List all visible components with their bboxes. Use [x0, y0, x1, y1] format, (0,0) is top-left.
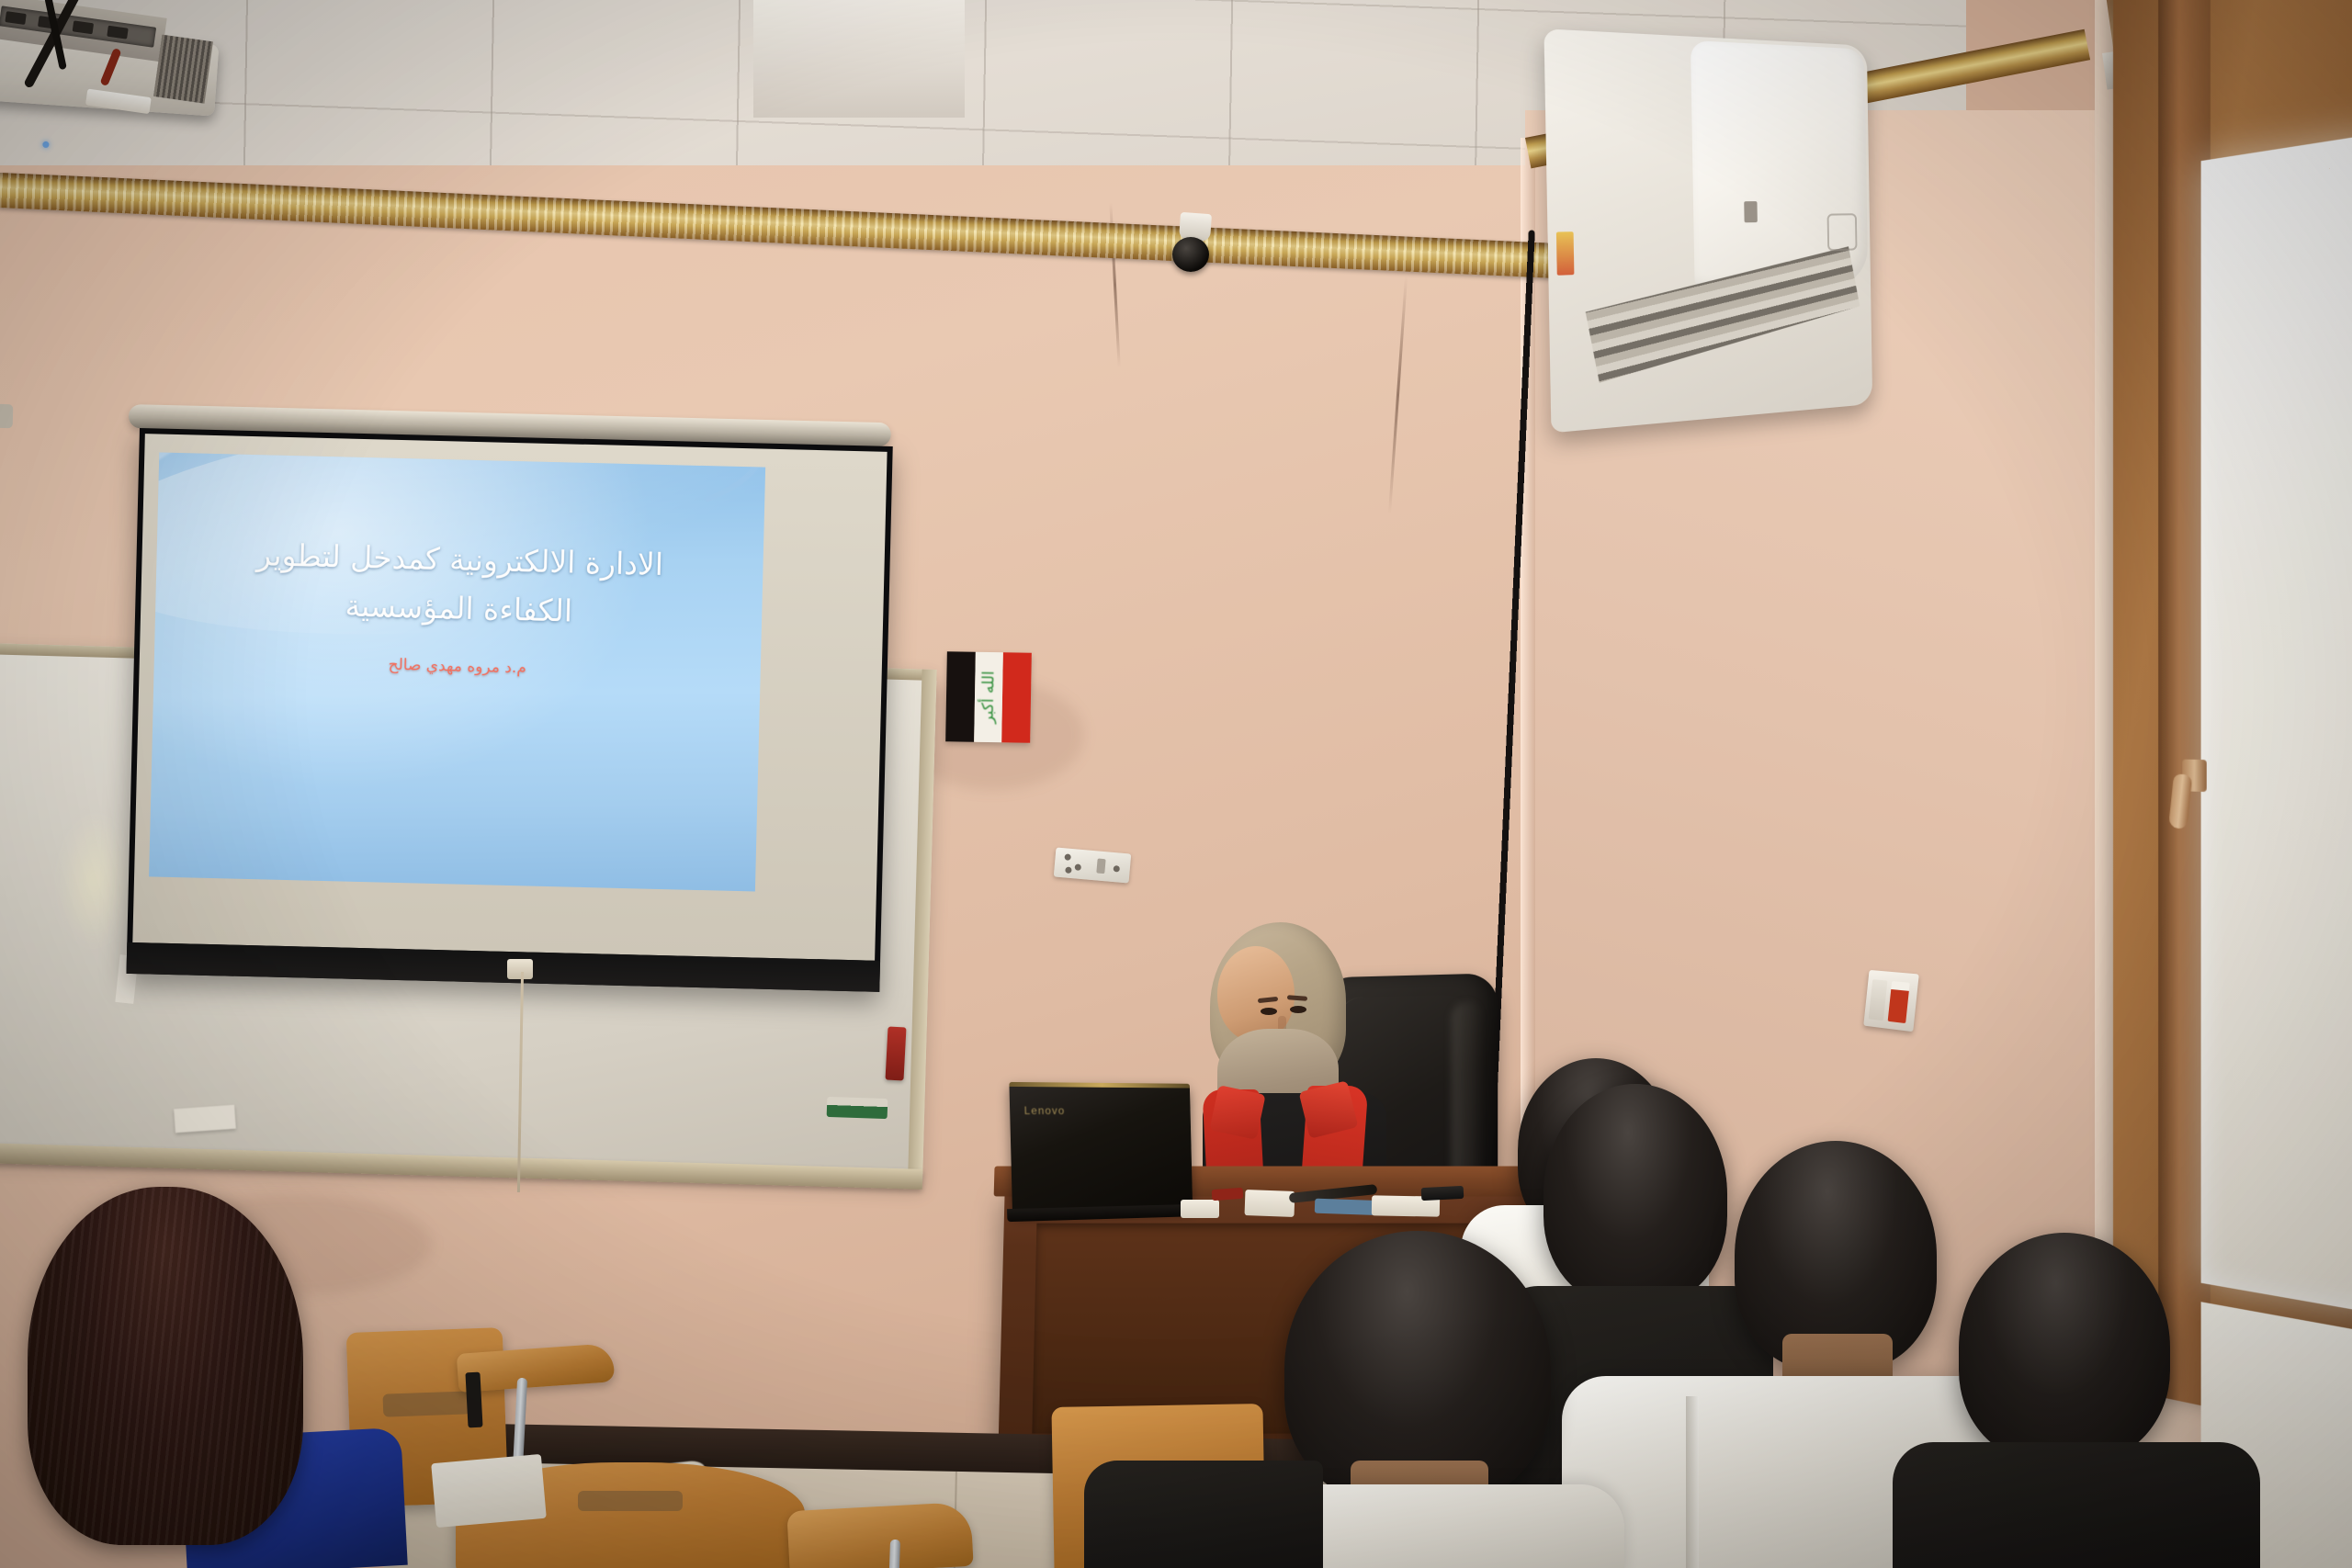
screen-roller-cap [0, 404, 13, 429]
wall-light-switch[interactable] [1863, 970, 1919, 1032]
presenter-eye-left [1261, 1008, 1277, 1015]
slide-author: م.د مروه مهدي صالح [154, 649, 761, 682]
whiteboard-eraser[interactable] [827, 1097, 888, 1119]
red-marker[interactable] [885, 1027, 906, 1081]
iraq-flag: الله أكبر [945, 651, 1032, 743]
chair-bracket-left [465, 1372, 482, 1428]
whiteboard-glare [56, 810, 133, 950]
classroom-photo: الادارة الالكترونية كمدخل لتطوير الكفاءة… [0, 0, 2352, 1568]
desk-items [1181, 1183, 1493, 1225]
projector-vent [153, 35, 213, 104]
student-left-notebook [431, 1454, 547, 1528]
presenter-collar-left [1209, 1085, 1265, 1140]
chair-leg-front [888, 1540, 900, 1568]
lenovo-laptop[interactable]: Lenovo [1009, 1082, 1193, 1213]
laptop-brand-logo: Lenovo [1024, 1104, 1066, 1117]
split-air-conditioner [1543, 28, 1872, 433]
desk-paper-left [1181, 1200, 1219, 1218]
chair-handle-slot [383, 1392, 471, 1417]
student-front-jacket [1084, 1461, 1323, 1568]
student-center-head [1543, 1084, 1727, 1304]
ac-display-slit [1744, 201, 1758, 222]
window-handle[interactable] [2171, 759, 2211, 815]
student-farright-head [1959, 1233, 2170, 1462]
projected-slide: الادارة الالكترونية كمدخل لتطوير الكفاءة… [149, 453, 765, 892]
presenter-eyebrow-left [1258, 997, 1278, 1003]
ac-sticker [1556, 231, 1575, 276]
chair-handle-slot-front [578, 1491, 683, 1511]
window-glass-upper [2201, 133, 2352, 1314]
flag-stripe-white: الله أكبر [974, 652, 1003, 743]
slide-text-block: الادارة الالكترونية كمدخل لتطوير الكفاءة… [154, 528, 764, 683]
flag-stripe-red [1001, 652, 1031, 743]
ac-side-panel-latch [1827, 213, 1858, 251]
presenter-eye-right [1290, 1006, 1306, 1013]
dome-security-camera-lens [1172, 237, 1209, 272]
tablet-arm-desk-front [786, 1502, 973, 1568]
light-switch-rocker-right[interactable] [1888, 981, 1910, 1023]
desk-red-object [1212, 1188, 1244, 1201]
window-frame[interactable] [2113, 0, 2352, 1441]
laptop-lid [1009, 1082, 1193, 1213]
light-switch-rocker-left[interactable] [1869, 979, 1888, 1021]
student-right-shirt-placket [1686, 1396, 1699, 1568]
presenter-face [1217, 946, 1295, 1042]
presenter-eyebrow-right [1287, 995, 1307, 1001]
student-left-hair [28, 1187, 303, 1545]
projection-screen: الادارة الالكترونية كمدخل لتطوير الكفاءة… [126, 428, 892, 992]
desk-phone [1421, 1186, 1464, 1201]
flag-takbir-script: الله أكبر [979, 671, 999, 724]
flag-stripe-black [945, 651, 975, 742]
ceiling-light-panel [753, 0, 965, 118]
student-farright-shirt [1893, 1442, 2260, 1568]
paper-scrap-on-tray [174, 1105, 236, 1134]
desk-paper-middle [1245, 1190, 1295, 1217]
